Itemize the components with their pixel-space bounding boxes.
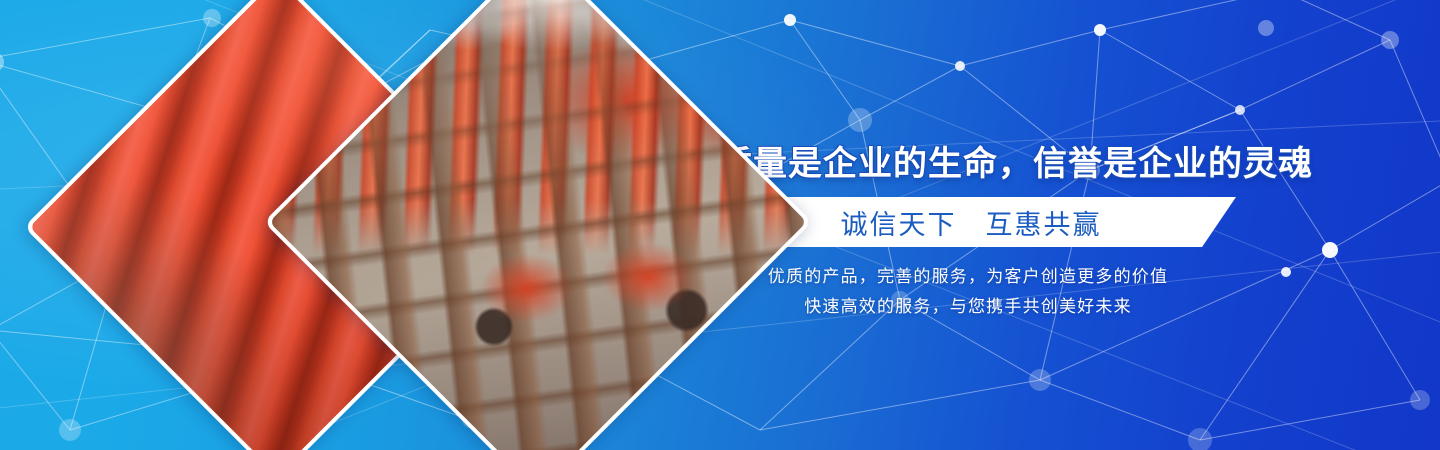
subtitle-line-1: 优质的产品，完善的服务，为客户创造更多的价值: [708, 262, 1228, 292]
banner-headline: 质量是企业的生命，信誉是企业的灵魂: [718, 136, 1238, 185]
subtitle-line-2: 快速高效的服务，与您携手共创美好未来: [708, 292, 1228, 322]
promotional-banner: 质量是企业的生命，信誉是企业的灵魂 诚信天下 互惠共赢 优质的产品，完善的服务，…: [0, 0, 1440, 450]
banner-subtitle: 优质的产品，完善的服务，为客户创造更多的价值 快速高效的服务，与您携手共创美好未…: [708, 262, 1228, 322]
